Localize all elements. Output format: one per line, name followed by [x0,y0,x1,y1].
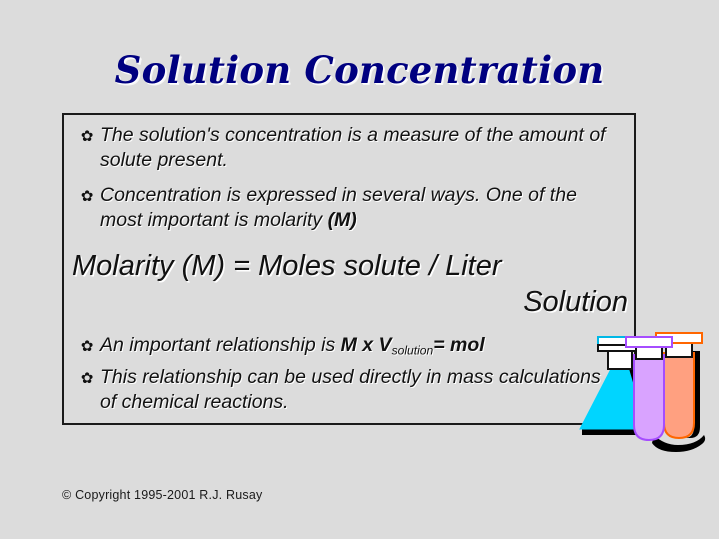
flower-bullet-icon: ✿ [74,183,100,207]
copyright-footer: © Copyright 1995-2001 R.J. Rusay [62,487,262,503]
page-title: Solution Concentration [0,48,719,92]
equation-block: Molarity (M) = Moles solute / Liter Solu… [72,248,628,320]
equation-line-2: Solution [72,284,628,320]
flower-bullet-icon: ✿ [74,333,100,357]
bullet-text-3: An important relationship is M x Vsoluti… [100,333,485,363]
equation-line-1: Molarity (M) = Moles solute / Liter [72,248,628,284]
bullet-item-1: ✿ The solution's concentration is a meas… [74,123,612,173]
laboratory-glassware-image [566,323,719,456]
bullet-item-4: ✿ This relationship can be used directly… [74,365,612,415]
formula-tail: = mol [433,334,484,356]
bullet-item-3: ✿ An important relationship is M x Vsolu… [74,333,485,363]
formula-subscript: solution [392,343,434,357]
bullet-item-2: ✿ Concentration is expressed in several … [74,183,612,233]
molarity-formula: M x Vsolution= mol [341,334,485,356]
bullet-text-4: This relationship can be used directly i… [100,365,612,415]
bullet-text-3-lead: An important relationship is [100,334,341,356]
formula-main: M x V [341,334,392,356]
bullet-text-2-bold: (M) [328,209,357,231]
slide-canvas: Solution Concentration ✿ The solution's … [0,0,719,539]
bullet-text-2: Concentration is expressed in several wa… [100,183,612,233]
bullet-text-1: The solution's concentration is a measur… [100,123,612,173]
flower-bullet-icon: ✿ [74,365,100,389]
content-box: ✿ The solution's concentration is a meas… [62,113,636,425]
flower-bullet-icon: ✿ [74,123,100,147]
